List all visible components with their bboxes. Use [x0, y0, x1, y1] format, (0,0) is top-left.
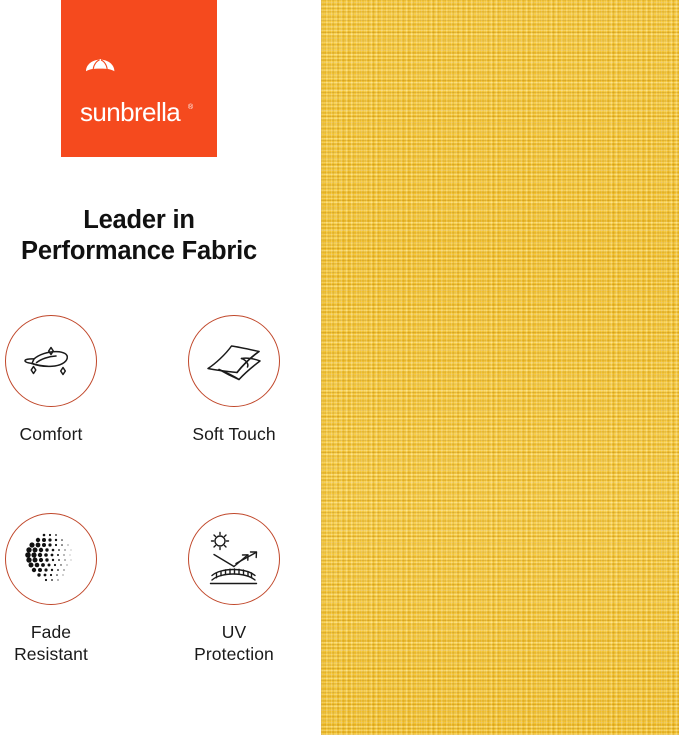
- feature-soft-touch-label: Soft Touch: [184, 423, 284, 445]
- feature-grid: Comfort Soft Touch: [0, 315, 300, 711]
- fabric-edge-shadow: [321, 0, 323, 735]
- feature-row-1: Comfort Soft Touch: [0, 315, 300, 513]
- trademark-symbol: ®: [188, 103, 194, 111]
- product-feature-panel: sunbrella ® Leader in Performance Fabric: [0, 0, 679, 735]
- feature-comfort-circle: [5, 315, 97, 407]
- headline: Leader in Performance Fabric: [0, 205, 278, 267]
- feature-uv-protection: UV Protection: [184, 513, 284, 665]
- brand-logo-box: sunbrella ®: [61, 0, 217, 157]
- umbrella-icon: [80, 56, 198, 102]
- feature-soft-touch: Soft Touch: [184, 315, 284, 445]
- folded-fabric-icon: [203, 336, 265, 386]
- cushion-sparkle-icon: [20, 338, 82, 384]
- fabric-swatch: [321, 0, 679, 735]
- wordmark-text: sunbrella: [80, 98, 181, 127]
- feature-row-2: Fade Resistant: [0, 513, 300, 711]
- halftone-dots-icon: [22, 530, 80, 588]
- feature-comfort: Comfort: [1, 315, 101, 445]
- feature-fade-resistant-label: Fade Resistant: [1, 621, 101, 665]
- feature-fade-resistant-circle: [5, 513, 97, 605]
- headline-line-1: Leader in: [0, 205, 278, 236]
- sun-reflect-fabric-icon: [203, 530, 265, 588]
- feature-uv-protection-circle: [188, 513, 280, 605]
- feature-fade-resistant: Fade Resistant: [1, 513, 101, 665]
- feature-soft-touch-circle: [188, 315, 280, 407]
- sunbrella-logo: sunbrella ®: [80, 56, 198, 102]
- info-column: sunbrella ® Leader in Performance Fabric: [0, 0, 321, 735]
- sunbrella-wordmark: sunbrella ®: [80, 98, 198, 128]
- feature-uv-protection-label: UV Protection: [184, 621, 284, 665]
- headline-line-2: Performance Fabric: [0, 236, 278, 267]
- feature-comfort-label: Comfort: [1, 423, 101, 445]
- fabric-weave-texture: [321, 0, 679, 735]
